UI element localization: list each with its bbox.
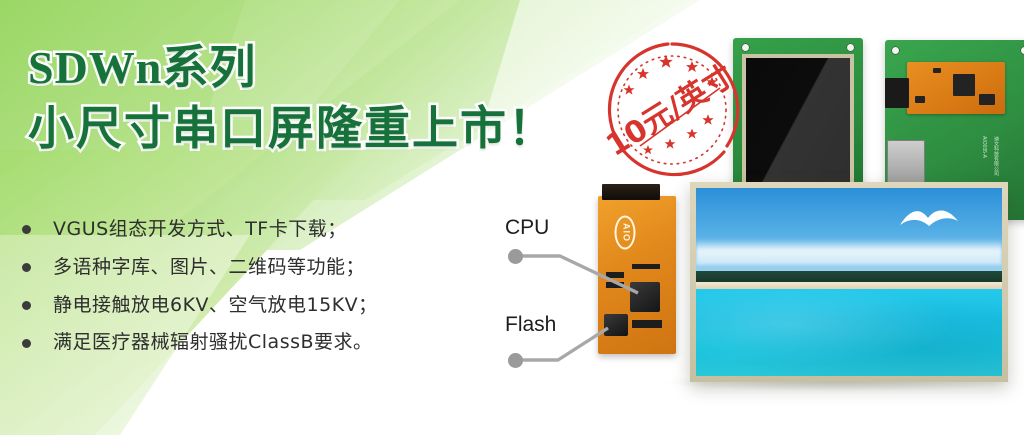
headline-block: SDWn系列 小尺寸串口屏隆重上市！ bbox=[28, 44, 628, 158]
list-item: 静电接触放电6KV、空气放电15KV； bbox=[22, 294, 378, 318]
feature-text: 满足医疗器械辐射骚扰ClassB要求。 bbox=[53, 331, 373, 355]
mounting-hole-icon bbox=[891, 46, 900, 55]
price-stamp: 10元/英寸 bbox=[596, 34, 748, 186]
sd-card-slot bbox=[887, 140, 925, 184]
feature-list: VGUS组态开发方式、TF卡下载； 多语种字库、图片、二维码等功能； 静电接触放… bbox=[22, 218, 378, 369]
feature-text: VGUS组态开发方式、TF卡下载； bbox=[53, 218, 347, 242]
seagull-icon bbox=[898, 205, 960, 235]
flat-flex-ribbon bbox=[602, 184, 660, 200]
callout-dot-flash bbox=[508, 353, 523, 368]
flex-module-on-pcb bbox=[907, 62, 1005, 114]
callout-label-cpu: CPU bbox=[505, 216, 549, 240]
mounting-hole-icon bbox=[1020, 46, 1024, 55]
smd-component bbox=[933, 68, 941, 73]
price-stamp-svg: 10元/英寸 bbox=[596, 34, 748, 186]
list-item: VGUS组态开发方式、TF卡下载； bbox=[22, 218, 378, 242]
memory-chip bbox=[979, 94, 995, 105]
lcd-display-main bbox=[690, 182, 1008, 382]
controller-chip bbox=[953, 74, 975, 96]
list-item: 多语种字库、图片、二维码等功能； bbox=[22, 256, 378, 280]
bullet-icon bbox=[22, 263, 31, 272]
headline-line-1: SDWn系列 bbox=[28, 44, 628, 92]
cloud-band bbox=[696, 239, 1002, 265]
bullet-icon bbox=[22, 301, 31, 310]
headline-line-2: 小尺寸串口屏隆重上市！ bbox=[28, 100, 628, 158]
feature-text: 多语种字库、图片、二维码等功能； bbox=[53, 256, 365, 280]
pcb-silkscreen-vendor: 迪文科技有限公司 bbox=[993, 136, 1000, 176]
fpc-connector bbox=[885, 78, 909, 108]
lagoon-water-region bbox=[696, 289, 1002, 376]
bullet-icon bbox=[22, 339, 31, 348]
callout-dot-cpu bbox=[508, 249, 523, 264]
mounting-hole-icon bbox=[846, 43, 855, 52]
pcb-silkscreen-part-number: AIO035-A bbox=[981, 136, 987, 158]
beach-sand-region bbox=[696, 282, 1002, 289]
list-item: 满足医疗器械辐射骚扰ClassB要求。 bbox=[22, 331, 378, 355]
promotional-banner: SDWn系列 小尺寸串口屏隆重上市！ VGUS组态开发方式、TF卡下载； 多语种… bbox=[0, 0, 1024, 435]
callout-label-flash: Flash bbox=[505, 313, 556, 337]
smd-component bbox=[915, 96, 925, 103]
feature-text: 静电接触放电6KV、空气放电15KV； bbox=[53, 294, 378, 318]
lcd-screen-content bbox=[696, 188, 1002, 376]
bullet-icon bbox=[22, 225, 31, 234]
treeline-region bbox=[696, 271, 1002, 282]
pcb-left-screen-off bbox=[746, 58, 850, 202]
